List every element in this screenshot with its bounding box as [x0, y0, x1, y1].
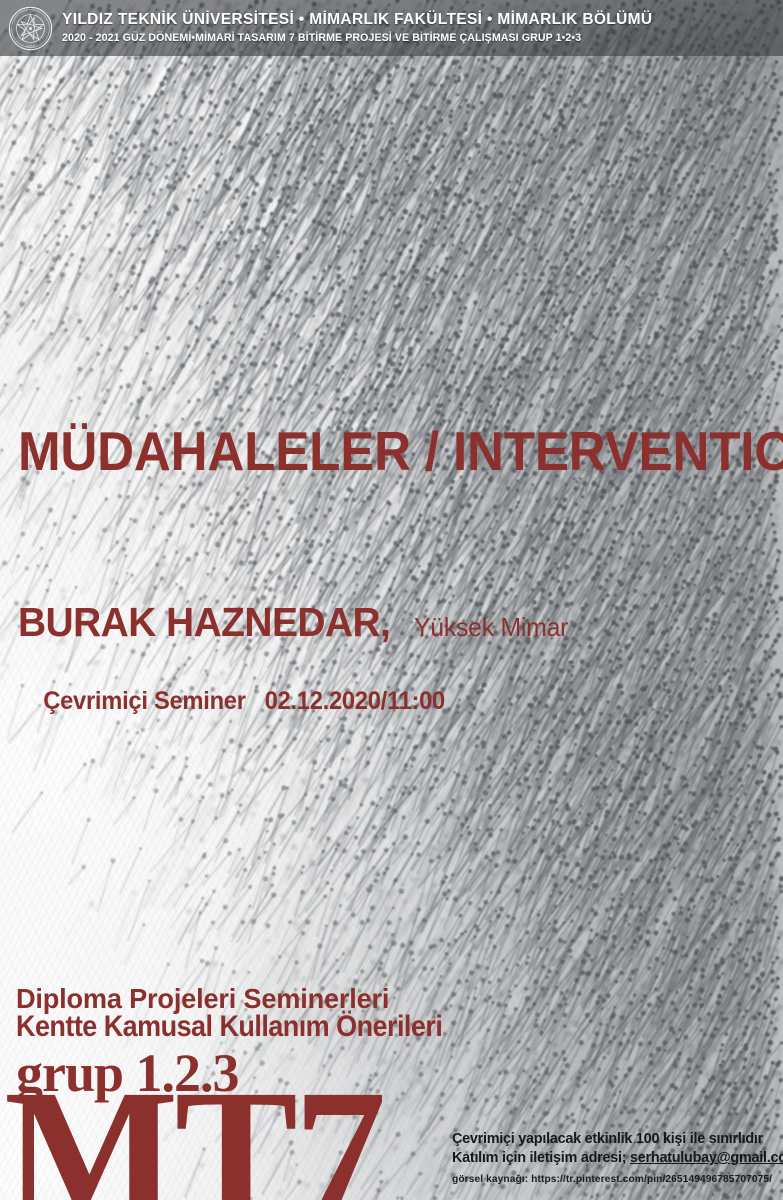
speaker-name: BURAK HAZNEDAR, — [18, 602, 390, 643]
contact-note: Katılım için iletişim adresi; serhatulub… — [452, 1149, 783, 1168]
seminar-spacer — [246, 687, 265, 715]
capacity-note: Çevrimiçi yapılacak etkinlik 100 kişi il… — [452, 1130, 783, 1149]
header-band: 1911 YILDIZ TEKNİK ÜNİVERSİTESİ • MİMARL… — [0, 0, 783, 56]
contact-prefix: Katılım için iletişim adresi; — [452, 1150, 630, 1166]
group-label: grup 1.2.3 — [16, 1046, 239, 1100]
seminar-schedule: Çevrimiçi Seminer 02.12.2020/11:00 — [18, 664, 445, 739]
ytu-seal-icon: 1911 — [8, 6, 53, 51]
seminar-poster: 1911 YILDIZ TEKNİK ÜNİVERSİTESİ • MİMARL… — [0, 0, 783, 1200]
header-text-group: YILDIZ TEKNİK ÜNİVERSİTESİ • MİMARLIK FA… — [62, 12, 652, 43]
contact-email-link[interactable]: serhatulubay@gmail.com — [630, 1150, 783, 1166]
series-title-line1: Diploma Projeleri Seminerleri — [16, 985, 389, 1013]
term-line: 2020 - 2021 GÜZ DÖNEMİ•MİMARİ TASARIM 7 … — [62, 33, 652, 44]
series-title-line2: Kentte Kamusal Kullanım Önerileri — [16, 1012, 442, 1042]
seminar-datetime: 02.12.2020/11:00 — [265, 687, 445, 715]
image-source-credit: görsel kaynağı: https://tr.pinterest.com… — [452, 1174, 783, 1185]
speaker-title: Yüksek Mimar — [414, 614, 568, 640]
seminar-label: Çevrimiçi Seminer — [43, 687, 245, 715]
page-title: MÜDAHALELER / INTERVENTIONS — [18, 424, 783, 479]
university-line: YILDIZ TEKNİK ÜNİVERSİTESİ • MİMARLIK FA… — [62, 12, 652, 28]
speaker-block: BURAK HAZNEDAR,Yüksek Mimar — [18, 602, 576, 643]
participation-info: Çevrimiçi yapılacak etkinlik 100 kişi il… — [452, 1130, 783, 1185]
